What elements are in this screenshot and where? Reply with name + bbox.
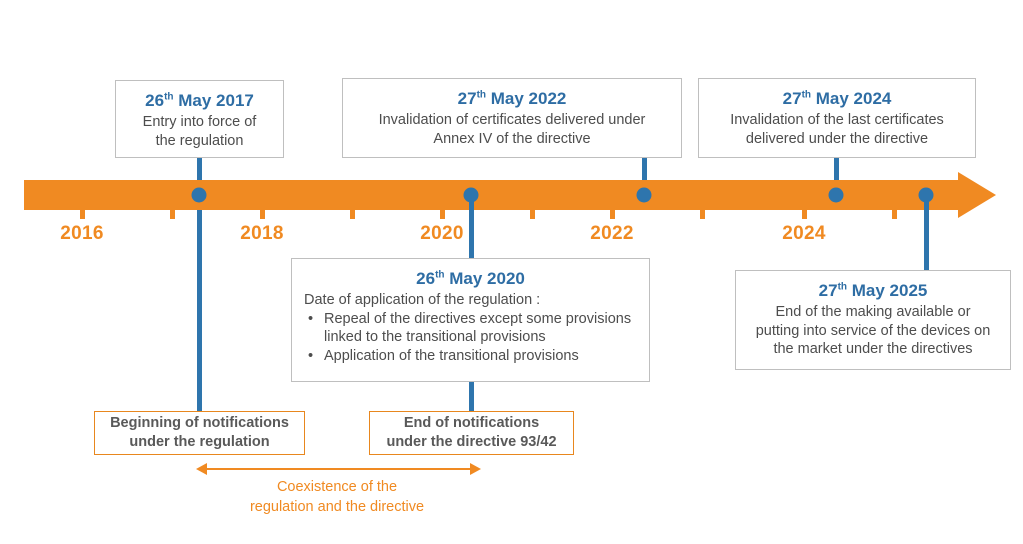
timeline-axis-bar xyxy=(24,180,964,210)
event-month-year-2024: May 2024 xyxy=(811,89,891,108)
axis-tick-8 xyxy=(802,210,807,219)
event-dot-2025 xyxy=(919,188,934,203)
axis-tick-3 xyxy=(350,210,355,219)
event-desc-2017: Entry into force of the regulation xyxy=(128,113,271,150)
event-ordinal-2024: th xyxy=(802,89,811,100)
note-box-beginning-notifications: Beginning of notifications under the reg… xyxy=(94,411,305,455)
event-dot-2022 xyxy=(637,188,652,203)
event-dot-2020 xyxy=(464,188,479,203)
axis-year-2024: 2024 xyxy=(782,223,825,245)
axis-tick-2 xyxy=(260,210,265,219)
timeline-arrowhead-icon xyxy=(958,172,996,218)
axis-year-2018: 2018 xyxy=(240,223,283,245)
event-month-year-2025: May 2025 xyxy=(847,281,927,300)
axis-year-2020: 2020 xyxy=(420,223,463,245)
event-month-year-2017: May 2017 xyxy=(174,91,254,110)
event-date-2025: 27th May 2025 xyxy=(748,280,998,301)
event-day-2017: 26 xyxy=(145,91,164,110)
event-bullet-2020-1: Application of the transitional provisio… xyxy=(306,347,637,366)
event-month-year-2020: May 2020 xyxy=(445,269,525,288)
event-desc-2025: End of the making available or putting i… xyxy=(748,303,998,359)
event-dot-2017 xyxy=(192,188,207,203)
event-desc-2024: Invalidation of the last certificates de… xyxy=(711,111,963,148)
coexistence-arrow-left-icon xyxy=(196,463,207,475)
event-dot-2024 xyxy=(829,188,844,203)
event-day-2022: 27 xyxy=(458,89,477,108)
event-day-2024: 27 xyxy=(783,89,802,108)
axis-year-2022: 2022 xyxy=(590,223,633,245)
axis-tick-9 xyxy=(892,210,897,219)
event-day-2020: 26 xyxy=(416,269,435,288)
event-ordinal-2025: th xyxy=(838,281,847,292)
axis-year-2016: 2016 xyxy=(60,223,103,245)
event-date-2024: 27th May 2024 xyxy=(711,88,963,109)
axis-tick-0 xyxy=(80,210,85,219)
event-box-2025: 27th May 2025 End of the making availabl… xyxy=(735,270,1011,370)
event-bullets-2020: Repeal of the directives except some pro… xyxy=(304,310,637,366)
event-date-2020: 26th May 2020 xyxy=(304,268,637,289)
event-bullet-2020-0: Repeal of the directives except some pro… xyxy=(306,310,637,347)
event-date-2017: 26th May 2017 xyxy=(128,90,271,111)
event-ordinal-2022: th xyxy=(477,89,486,100)
event-box-2017: 26th May 2017 Entry into force of the re… xyxy=(115,80,284,158)
event-ordinal-2020: th xyxy=(435,269,444,280)
coexistence-arrow-right-icon xyxy=(470,463,481,475)
connector-2020-upper xyxy=(469,196,474,258)
event-desc-2022: Invalidation of certificates delivered u… xyxy=(355,111,669,148)
note-end-label: End of notifications under the directive… xyxy=(386,414,556,452)
axis-tick-6 xyxy=(610,210,615,219)
event-box-2022: 27th May 2022 Invalidation of certificat… xyxy=(342,78,682,158)
axis-tick-7 xyxy=(700,210,705,219)
event-desc-2020: Date of application of the regulation : xyxy=(304,291,637,310)
connector-2025 xyxy=(924,196,929,272)
event-month-year-2022: May 2022 xyxy=(486,89,566,108)
axis-tick-5 xyxy=(530,210,535,219)
axis-tick-1 xyxy=(170,210,175,219)
coexistence-arrow-line xyxy=(206,468,472,470)
event-date-2022: 27th May 2022 xyxy=(355,88,669,109)
event-day-2025: 27 xyxy=(819,281,838,300)
event-box-2020: 26th May 2020 Date of application of the… xyxy=(291,258,650,382)
note-box-end-notifications: End of notifications under the directive… xyxy=(369,411,574,455)
coexistence-caption: Coexistence of the regulation and the di… xyxy=(196,478,478,517)
note-beginning-label: Beginning of notifications under the reg… xyxy=(110,414,289,452)
event-box-2024: 27th May 2024 Invalidation of the last c… xyxy=(698,78,976,158)
timeline-infographic: 26th May 2017 Entry into force of the re… xyxy=(0,0,1023,544)
axis-tick-4 xyxy=(440,210,445,219)
event-ordinal-2017: th xyxy=(164,91,173,102)
